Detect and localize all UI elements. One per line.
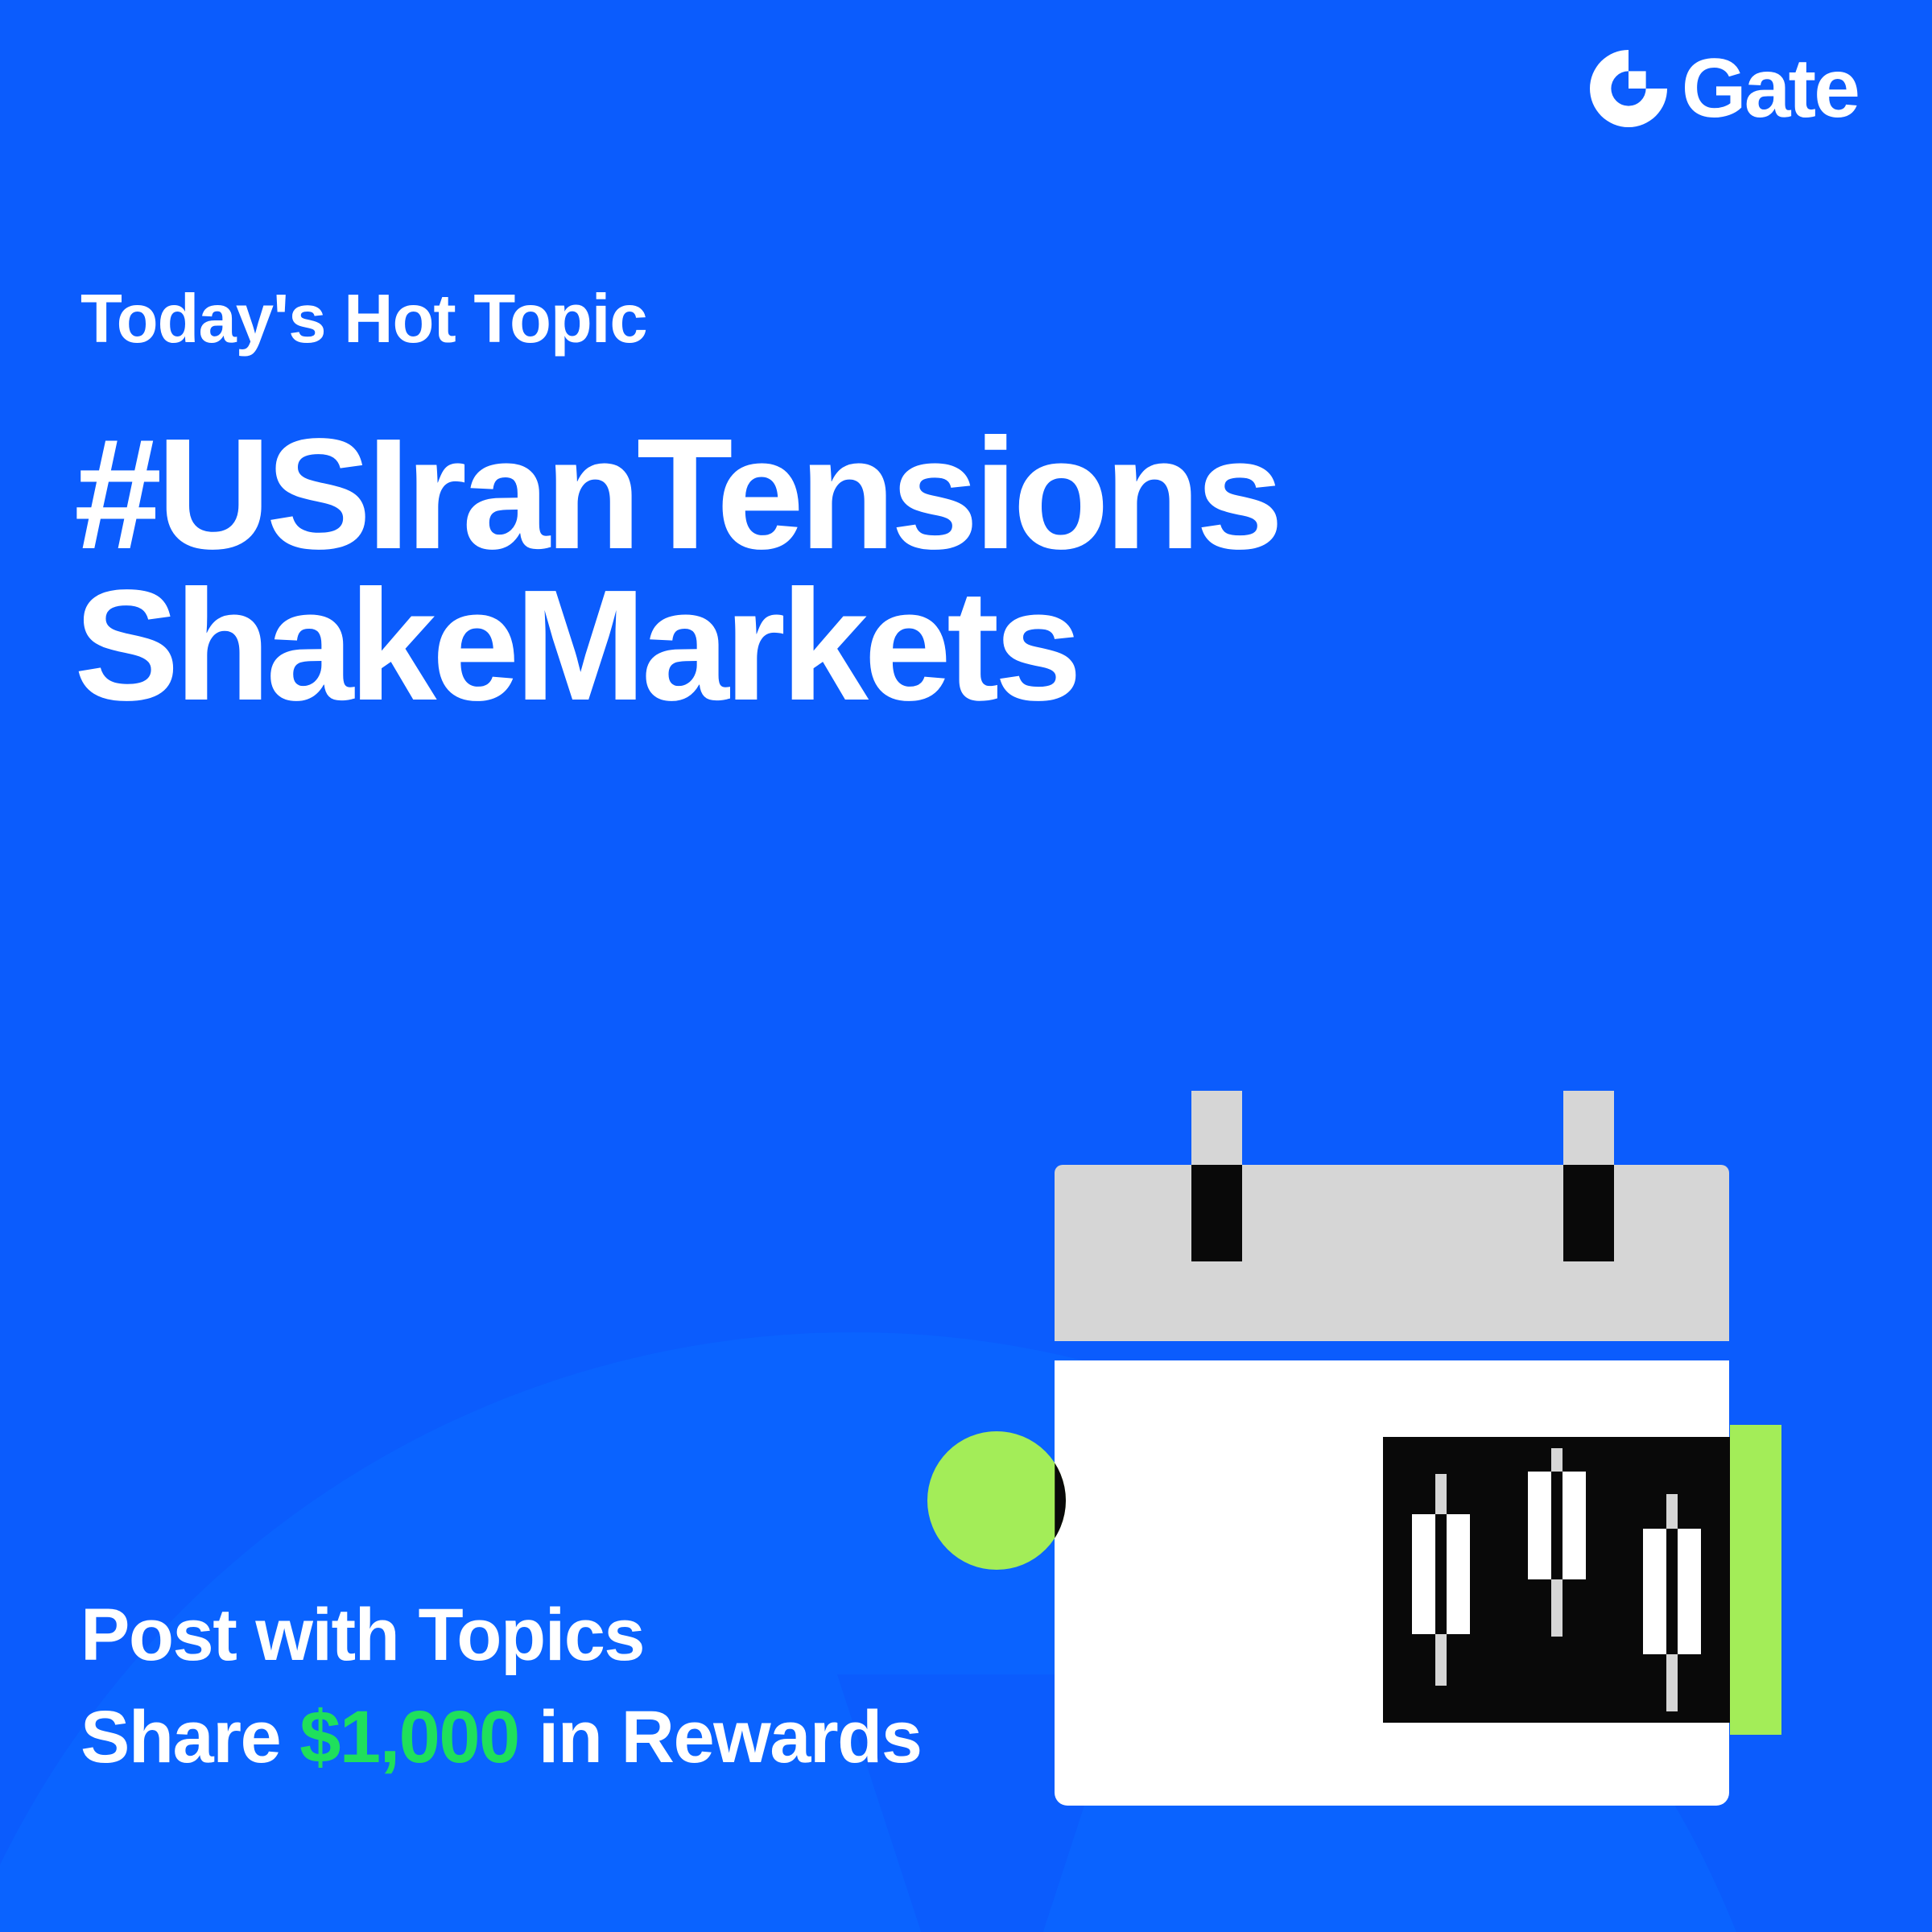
candlestick-3 [1643,1437,1701,1723]
binding-ring-right-icon [1563,1091,1614,1165]
headline-line-2: ShakeMarkets [74,570,1845,721]
gate-logo[interactable]: Gate [1590,47,1858,130]
reward-amount: $1,000 [299,1696,518,1778]
promo-canvas: Gate Today's Hot Topic #USIranTensions S… [0,0,1932,1932]
calendar-illustration [1055,1079,1787,1811]
cta-share-suffix: in Rewards [519,1696,922,1778]
candlestick-chart [1383,1437,1730,1723]
cta-line-post: Post with Topics [80,1584,922,1686]
candlestick-body-slit [1551,1472,1563,1580]
green-accent-bar [1730,1425,1781,1735]
binding-ring-left-stem [1191,1165,1242,1261]
cta-share-prefix: Share [80,1696,299,1778]
binding-ring-right-stem [1563,1165,1614,1261]
binding-ring-left-icon [1191,1091,1242,1165]
circle-green-half [927,1431,1066,1570]
eyebrow-label: Today's Hot Topic [80,283,647,355]
reward-callout: Post with Topics Share $1,000 in Rewards [80,1584,922,1789]
candlestick-2 [1528,1437,1586,1723]
page-title: #USIranTensions ShakeMarkets [74,419,1845,721]
candlestick-body-slit [1666,1529,1678,1654]
headline-line-1: #USIranTensions [74,419,1845,570]
candlestick-1 [1412,1437,1470,1723]
two-tone-circle [927,1431,1066,1570]
calendar-header-bar [1055,1165,1729,1341]
gate-wordmark: Gate [1682,50,1858,127]
gate-ring-logo-icon [1590,50,1667,127]
cta-line-share: Share $1,000 in Rewards [80,1686,922,1789]
candlestick-body-slit [1435,1514,1447,1634]
